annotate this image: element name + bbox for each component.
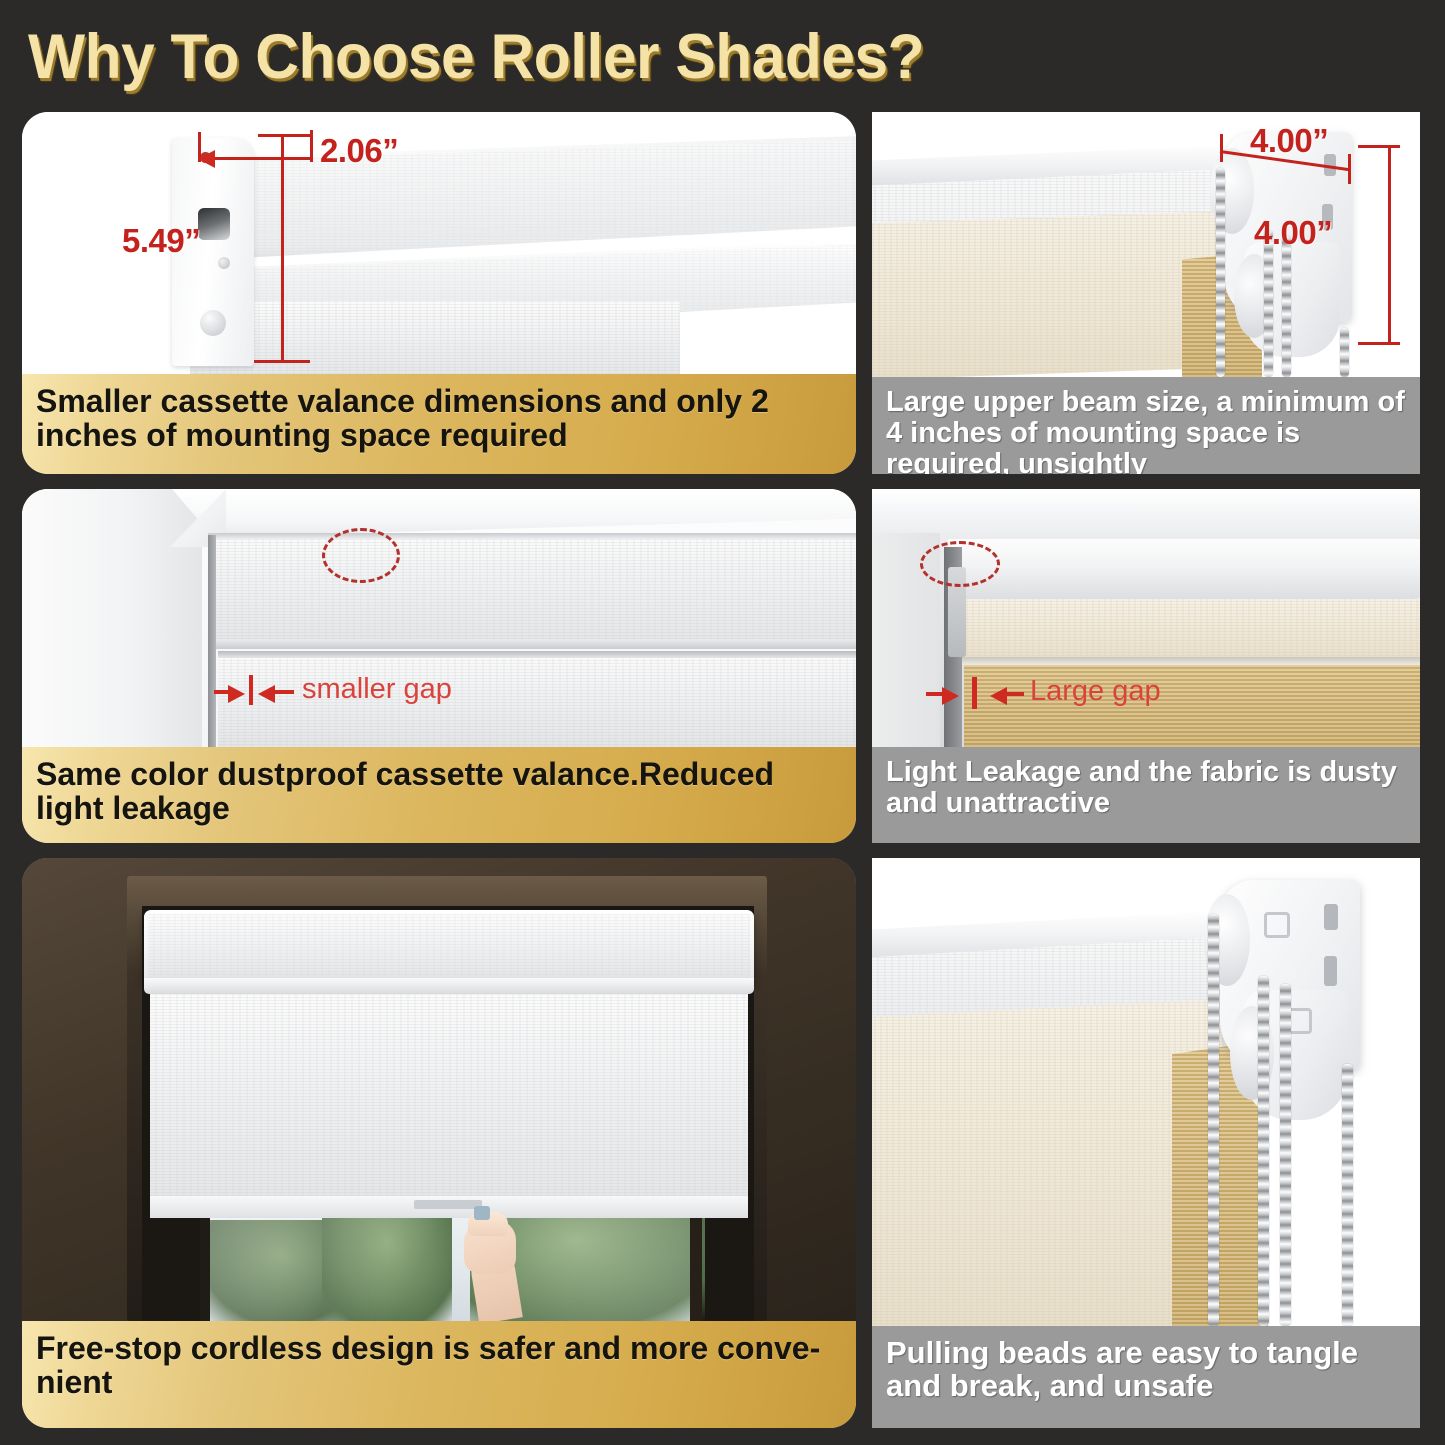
window-frame-left [22, 489, 202, 747]
cassette-valance-bar [208, 535, 856, 647]
bead-chain-1 [1216, 168, 1225, 377]
large-gap-label: Large gap [1030, 675, 1161, 708]
panel-2-photo: 4.00” 4.00” [872, 112, 1420, 377]
panel-3-photo: smaller gap [22, 489, 856, 747]
bracket-slot-a [1324, 904, 1338, 930]
end-cap-screw-lower [200, 310, 226, 336]
dim-206-arrow-left [198, 150, 215, 168]
bracket-slot-b [1324, 956, 1337, 986]
infographic-root: Why To Choose Roller Shades? 2.06” [0, 0, 1445, 1445]
shade-pull-handle [474, 1206, 490, 1220]
bead-chain-d [1342, 1064, 1353, 1326]
bead-chain-c [1280, 984, 1291, 1326]
panel-6-caption-text: Pulling beads are easy to tangle and bre… [886, 1336, 1406, 1402]
large-gap-arrow-right-stem [1006, 692, 1024, 696]
large-gap-arrow-left-stem [926, 692, 944, 696]
panel-2-caption: Large upper beam size, a minimum of 4 in… [872, 377, 1420, 474]
large-gap-arrow-right [990, 687, 1007, 705]
roller-tube-white [948, 539, 1420, 599]
panel-1-caption-text: Smaller cassette valance dimensions and … [36, 384, 842, 452]
shade-body-fabric [150, 994, 748, 1210]
header-band [872, 489, 1420, 533]
panel-pulling-beads: Pulling beads are easy to tangle and bre… [872, 858, 1420, 1428]
bead-chain-a [1208, 914, 1219, 1326]
panel-4-caption-text: Light Leakage and the fabric is dusty an… [886, 757, 1406, 819]
window-glass-sheen [200, 1200, 702, 1321]
gap-arrow-right [258, 685, 275, 703]
cassette-valance-edge [208, 533, 856, 539]
dim-400-width-label: 4.00” [1250, 122, 1328, 160]
panel-4-caption: Light Leakage and the fabric is dusty an… [872, 747, 1420, 843]
panel-3-caption-text: Same color dustproof cassette valance.Re… [36, 757, 842, 825]
large-gap-arrow-left [942, 687, 959, 705]
headrail-texture [148, 914, 750, 980]
highlight-ellipse [322, 528, 400, 583]
bead-chain-2 [1264, 230, 1273, 377]
panel-dustproof-valance: smaller gap Same color dustproof cassett… [22, 489, 856, 843]
dim-400-v-tick-top [1358, 145, 1400, 148]
window-mullion [200, 1200, 210, 1321]
large-gap-marker-bar [972, 677, 977, 709]
window-mullion-right [690, 1200, 702, 1321]
panel-5-caption: Free-stop cordless design is safer and m… [22, 1321, 856, 1428]
bead-chain-3 [1282, 236, 1291, 377]
shade-fabric-top-edge [218, 651, 856, 658]
dim-400-v-line [1388, 145, 1391, 343]
panel-1-photo: 2.06” 5.49” [22, 112, 856, 374]
panel-4-photo: Large gap [872, 489, 1420, 747]
panel-1-caption: Smaller cassette valance dimensions and … [22, 374, 856, 474]
panel-cordless-design: Free-stop cordless design is safer and m… [22, 858, 856, 1428]
panel-smaller-cassette: 2.06” 5.49” Smaller cassette valance dim… [22, 112, 856, 474]
end-cap-screw-upper [218, 257, 230, 269]
gap-marker-bar [249, 675, 253, 705]
panel-5-caption-text: Free-stop cordless design is safer and m… [36, 1331, 842, 1399]
panel-2-caption-text: Large upper beam size, a minimum of 4 in… [886, 387, 1406, 474]
dim-400-h-tick-left [1220, 134, 1223, 162]
panel-large-upper-beam: 4.00” 4.00” Large upper beam size, a min… [872, 112, 1420, 474]
bracket-icon-upper [1264, 912, 1290, 938]
panel-6-photo [872, 858, 1420, 1326]
gap-arrow-left-stem [214, 690, 230, 694]
dim-549-label: 5.49” [122, 222, 200, 260]
gap-arrow-left [228, 685, 245, 703]
bead-chain-4 [1340, 328, 1349, 377]
cream-band-shadow [956, 657, 1420, 665]
hanging-fabric [190, 302, 680, 374]
dim-206-label: 2.06” [320, 132, 398, 170]
window-frame-top [172, 489, 856, 537]
bead-chain-b [1258, 976, 1269, 1326]
cassette-valance-underline [208, 639, 856, 649]
gap-strip [208, 535, 216, 747]
gap-arrow-right-stem [274, 690, 294, 694]
page-title: Why To Choose Roller Shades? [28, 22, 1084, 92]
smaller-gap-label: smaller gap [302, 673, 452, 706]
panel-light-leakage: Large gap Light Leakage and the fabric i… [872, 489, 1420, 843]
cream-fabric-band [956, 599, 1420, 661]
panel-3-caption: Same color dustproof cassette valance.Re… [22, 747, 856, 843]
highlight-ellipse-gap [920, 541, 1000, 587]
panel-5-photo [22, 858, 856, 1321]
shade-brand-tab [414, 1200, 482, 1209]
dim-206-tick-right [310, 130, 313, 162]
end-cap-slot [198, 208, 230, 240]
dim-549-tick-top [258, 134, 310, 137]
dim-549-line [281, 134, 284, 362]
panel-6-caption: Pulling beads are easy to tangle and bre… [872, 1326, 1420, 1428]
dim-400-v-tick-bottom [1358, 342, 1400, 345]
dim-400-height-label: 4.00” [1254, 214, 1332, 252]
headrail-lip [144, 978, 754, 994]
